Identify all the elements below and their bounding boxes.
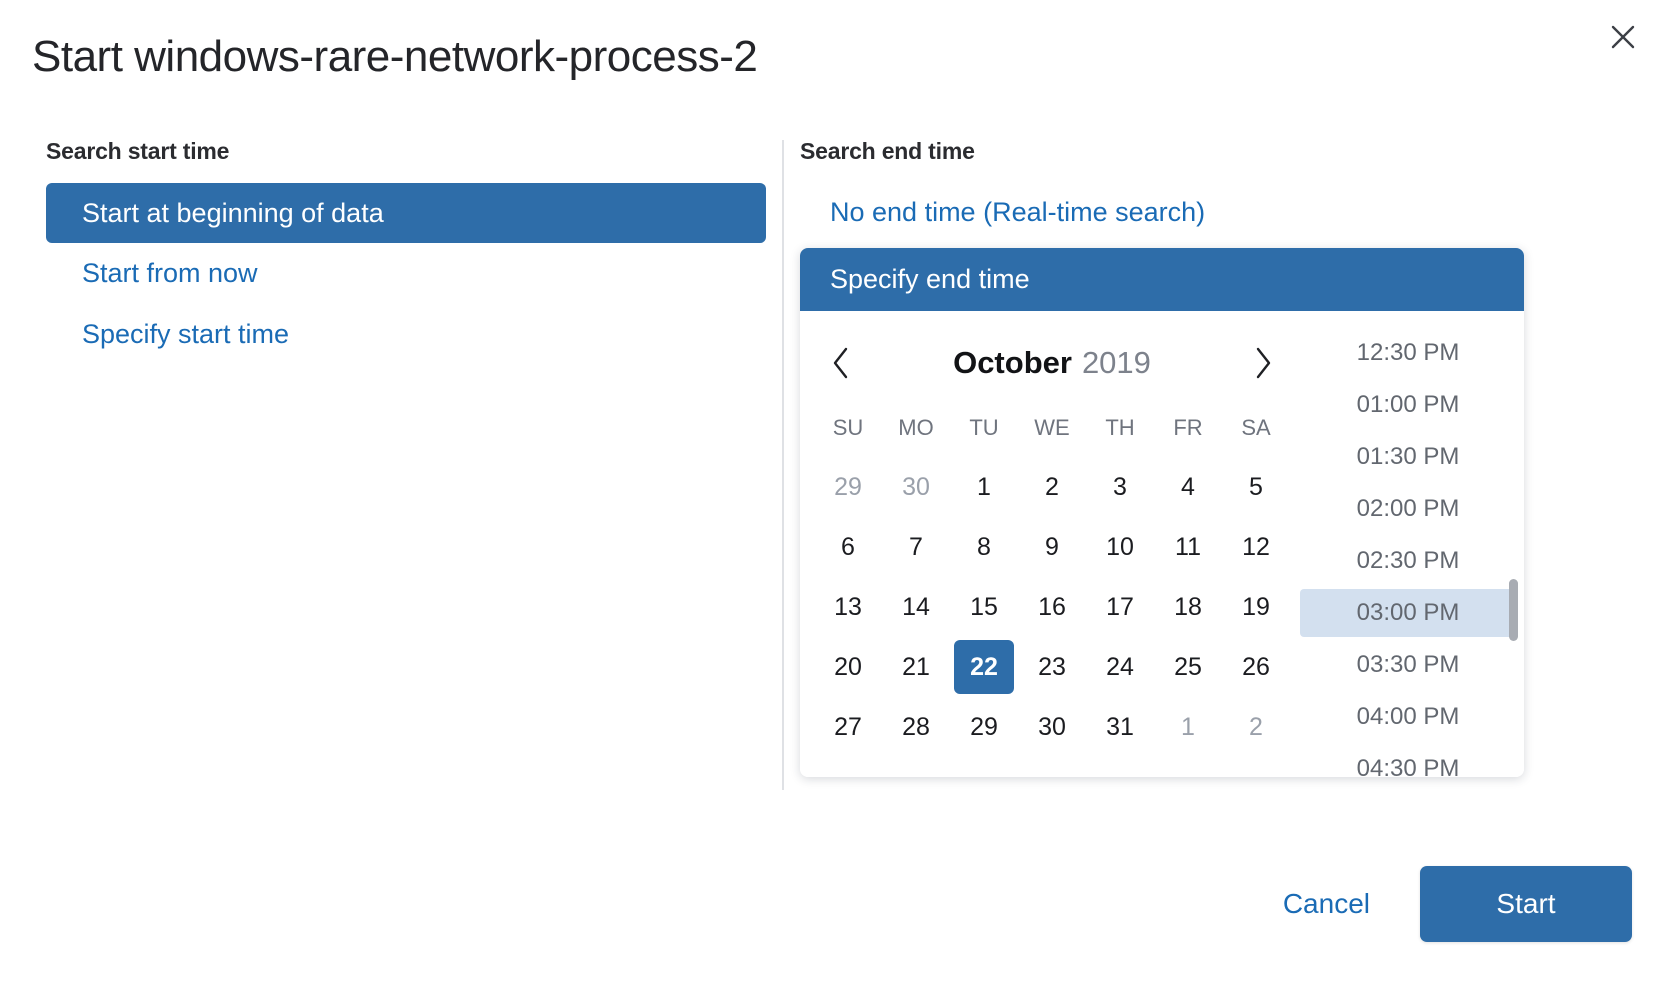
calendar-day-cell: 11	[1154, 517, 1222, 577]
calendar-day[interactable]: 11	[1158, 520, 1218, 574]
weekday-header: WE	[1018, 399, 1086, 457]
calendar-day-cell: 29	[950, 697, 1018, 757]
calendar-day[interactable]: 31	[1090, 700, 1150, 754]
calendar-day-cell: 16	[1018, 577, 1086, 637]
dialog-footer: Cancel Start	[1279, 866, 1632, 942]
calendar-day[interactable]: 12	[1226, 520, 1286, 574]
start-search-dialog: Start windows-rare-network-process-2 Sea…	[0, 0, 1666, 994]
calendar-day[interactable]: 14	[886, 580, 946, 634]
calendar-day[interactable]: 5	[1226, 460, 1286, 514]
calendar-day[interactable]: 17	[1090, 580, 1150, 634]
calendar-day[interactable]: 13	[818, 580, 878, 634]
calendar-day-cell: 5	[1222, 457, 1290, 517]
calendar-day[interactable]: 26	[1226, 640, 1286, 694]
calendar-day[interactable]: 2	[1022, 460, 1082, 514]
start-option-specify-start-time[interactable]: Specify start time	[46, 304, 766, 364]
calendar-day-cell: 24	[1086, 637, 1154, 697]
calendar-day-cell: 23	[1018, 637, 1086, 697]
time-option[interactable]: 01:30 PM	[1300, 433, 1516, 481]
calendar-day[interactable]: 19	[1226, 580, 1286, 634]
calendar-day-cell: 2	[1222, 697, 1290, 757]
calendar-day[interactable]: 4	[1158, 460, 1218, 514]
weekday-header: MO	[882, 399, 950, 457]
dialog-title: Start windows-rare-network-process-2	[32, 32, 757, 82]
calendar-day[interactable]: 29	[818, 460, 878, 514]
time-option[interactable]: 02:00 PM	[1300, 485, 1516, 533]
calendar-title: October2019	[864, 345, 1240, 381]
calendar-day-cell: 18	[1154, 577, 1222, 637]
time-list-scrollbar[interactable]	[1509, 325, 1518, 777]
time-option[interactable]: 02:30 PM	[1300, 537, 1516, 585]
calendar-days: 2930123456789101112131415161718192021222…	[814, 457, 1290, 757]
calendar-day-cell: 10	[1086, 517, 1154, 577]
calendar-day[interactable]: 10	[1090, 520, 1150, 574]
dialog-columns: Search start time Start at beginning of …	[0, 138, 1666, 798]
column-divider	[782, 140, 784, 790]
calendar: October2019 SU MO TU	[800, 311, 1300, 777]
calendar-day-cell: 1	[1154, 697, 1222, 757]
calendar-day[interactable]: 15	[954, 580, 1014, 634]
calendar-year: 2019	[1082, 345, 1151, 380]
calendar-day[interactable]: 16	[1022, 580, 1082, 634]
weekday-header: SA	[1222, 399, 1290, 457]
search-start-time-column: Search start time Start at beginning of …	[46, 138, 780, 364]
time-option[interactable]: 03:30 PM	[1300, 641, 1516, 689]
calendar-day-cell: 3	[1086, 457, 1154, 517]
calendar-month: October	[953, 345, 1072, 380]
calendar-nav: October2019	[814, 327, 1290, 399]
weekday-header: FR	[1154, 399, 1222, 457]
calendar-day-cell: 13	[814, 577, 882, 637]
start-option-beginning-of-data[interactable]: Start at beginning of data	[46, 183, 766, 243]
time-list: 12:30 PM01:00 PM01:30 PM02:00 PM02:30 PM…	[1300, 329, 1524, 777]
calendar-day[interactable]: 3	[1090, 460, 1150, 514]
calendar-day[interactable]: 7	[886, 520, 946, 574]
calendar-day[interactable]: 1	[954, 460, 1014, 514]
time-option[interactable]: 01:00 PM	[1300, 381, 1516, 429]
calendar-day[interactable]: 22	[954, 640, 1014, 694]
calendar-day-cell: 21	[882, 637, 950, 697]
calendar-day[interactable]: 28	[886, 700, 946, 754]
calendar-grid: SU MO TU WE TH FR SA	[814, 399, 1290, 457]
calendar-day-cell: 30	[882, 457, 950, 517]
time-option[interactable]: 04:00 PM	[1300, 693, 1516, 741]
time-list-scrollbar-thumb[interactable]	[1509, 579, 1518, 641]
end-option-specify-end-time[interactable]: Specify end time	[800, 248, 1524, 311]
datetime-picker: Specify end time October2019	[800, 248, 1524, 777]
calendar-day-cell: 29	[814, 457, 882, 517]
search-end-time-label: Search end time	[800, 138, 1630, 165]
calendar-day-cell: 7	[882, 517, 950, 577]
calendar-day[interactable]: 23	[1022, 640, 1082, 694]
start-option-from-now[interactable]: Start from now	[46, 243, 766, 303]
chevron-right-icon[interactable]	[1240, 340, 1286, 386]
calendar-day[interactable]: 27	[818, 700, 878, 754]
calendar-day[interactable]: 29	[954, 700, 1014, 754]
calendar-day-cell: 1	[950, 457, 1018, 517]
calendar-day[interactable]: 20	[818, 640, 878, 694]
calendar-day-cell: 6	[814, 517, 882, 577]
close-icon[interactable]	[1602, 16, 1644, 58]
calendar-day[interactable]: 6	[818, 520, 878, 574]
weekday-header: SU	[814, 399, 882, 457]
time-option[interactable]: 03:00 PM	[1300, 589, 1516, 637]
calendar-day-cell: 30	[1018, 697, 1086, 757]
picker-body: October2019 SU MO TU	[800, 311, 1524, 777]
calendar-day-cell: 31	[1086, 697, 1154, 757]
calendar-day[interactable]: 24	[1090, 640, 1150, 694]
calendar-day-cell: 2	[1018, 457, 1086, 517]
calendar-day-cell: 22	[950, 637, 1018, 697]
calendar-day-cell: 20	[814, 637, 882, 697]
time-option[interactable]: 12:30 PM	[1300, 329, 1516, 377]
calendar-day-cell: 28	[882, 697, 950, 757]
weekday-header: TU	[950, 399, 1018, 457]
calendar-day[interactable]: 1	[1158, 700, 1218, 754]
calendar-day[interactable]: 25	[1158, 640, 1218, 694]
calendar-day[interactable]: 8	[954, 520, 1014, 574]
chevron-left-icon[interactable]	[818, 340, 864, 386]
time-list-container[interactable]: 12:30 PM01:00 PM01:30 PM02:00 PM02:30 PM…	[1300, 311, 1524, 777]
calendar-day[interactable]: 21	[886, 640, 946, 694]
calendar-day-cell: 25	[1154, 637, 1222, 697]
cancel-button[interactable]: Cancel	[1279, 880, 1374, 928]
calendar-day-cell: 12	[1222, 517, 1290, 577]
time-option[interactable]: 04:30 PM	[1300, 745, 1516, 777]
calendar-day-cell: 4	[1154, 457, 1222, 517]
calendar-day-cell: 14	[882, 577, 950, 637]
search-start-time-label: Search start time	[46, 138, 780, 165]
calendar-day[interactable]: 2	[1226, 700, 1286, 754]
calendar-day[interactable]: 30	[886, 460, 946, 514]
calendar-day-cell: 26	[1222, 637, 1290, 697]
calendar-day-cell: 19	[1222, 577, 1290, 637]
calendar-day-cell: 15	[950, 577, 1018, 637]
calendar-day-cell: 27	[814, 697, 882, 757]
start-button[interactable]: Start	[1420, 866, 1632, 942]
weekday-header: TH	[1086, 399, 1154, 457]
calendar-day[interactable]: 9	[1022, 520, 1082, 574]
calendar-day-cell: 9	[1018, 517, 1086, 577]
calendar-day-cell: 17	[1086, 577, 1154, 637]
end-option-no-end-time[interactable]: No end time (Real-time search)	[800, 183, 1630, 242]
calendar-day-cell: 8	[950, 517, 1018, 577]
calendar-day[interactable]: 18	[1158, 580, 1218, 634]
calendar-day[interactable]: 30	[1022, 700, 1082, 754]
search-end-time-column: Search end time No end time (Real-time s…	[800, 138, 1630, 777]
